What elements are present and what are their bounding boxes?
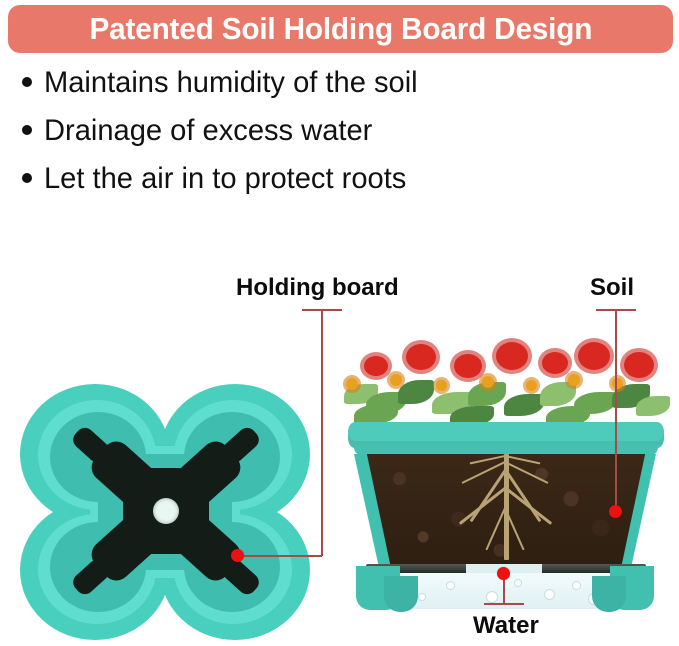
- accent-flower: [526, 380, 537, 391]
- callout-label-soil: Soil: [590, 274, 634, 302]
- feature-text: Maintains humidity of the soil: [44, 66, 418, 100]
- leader-stem-holding-board: [321, 309, 323, 556]
- flower-bloom: [542, 352, 568, 374]
- water-bubble: [486, 591, 498, 603]
- root: [485, 508, 506, 551]
- bullet-dot-icon: [22, 77, 32, 87]
- callout-label-holding-board: Holding board: [236, 274, 399, 302]
- leaf: [354, 404, 398, 424]
- leaf: [540, 382, 576, 406]
- list-item: Maintains humidity of the soil: [22, 66, 642, 114]
- bullet-dot-icon: [22, 173, 32, 183]
- page-title: Patented Soil Holding Board Design: [89, 11, 592, 47]
- flower-bloom: [454, 354, 482, 378]
- list-item: Drainage of excess water: [22, 114, 642, 162]
- leaf: [398, 380, 434, 404]
- flower-bloom: [406, 344, 436, 370]
- root: [505, 487, 553, 525]
- callout-marker-holding-board: [231, 549, 244, 562]
- feature-text: Drainage of excess water: [44, 114, 372, 148]
- flower-bloom: [624, 352, 654, 378]
- accent-flower: [346, 378, 358, 390]
- water-bubble: [446, 581, 455, 590]
- accent-flower: [436, 380, 447, 391]
- planter-foot-cup: [384, 576, 418, 612]
- insert-drain-hole: [153, 498, 179, 524]
- planter-top-view-image: [14, 382, 314, 640]
- bullet-dot-icon: [22, 125, 32, 135]
- leaf: [504, 394, 544, 416]
- feature-list: Maintains humidity of the soil Drainage …: [22, 66, 642, 210]
- leader-stem-soil: [615, 309, 617, 513]
- holding-board-insert: [76, 420, 256, 602]
- accent-flower: [612, 378, 623, 389]
- feature-text: Let the air in to protect roots: [44, 162, 406, 196]
- flower-bloom: [496, 342, 528, 370]
- accent-flower: [568, 374, 580, 386]
- header-banner: Patented Soil Holding Board Design: [8, 5, 673, 53]
- water-bubble: [514, 579, 522, 587]
- callout-marker-water: [497, 567, 510, 580]
- flower-bloom: [578, 342, 610, 370]
- leaf: [636, 396, 670, 416]
- list-item: Let the air in to protect roots: [22, 162, 642, 210]
- planter-cross-section-image: [330, 330, 679, 605]
- callout-marker-soil: [609, 505, 622, 518]
- water-bubble: [572, 581, 581, 590]
- planter-foot-cup: [592, 576, 626, 612]
- accent-flower: [390, 374, 402, 386]
- water-bubble: [418, 593, 426, 601]
- leader-run-holding-board: [238, 555, 322, 557]
- callout-label-water: Water: [473, 612, 539, 640]
- infographic-page: Patented Soil Holding Board Design Maint…: [0, 0, 679, 646]
- water-bubble: [544, 589, 555, 600]
- accent-flower: [482, 376, 494, 388]
- plant-foliage: [336, 330, 676, 428]
- flower-bloom: [364, 356, 388, 376]
